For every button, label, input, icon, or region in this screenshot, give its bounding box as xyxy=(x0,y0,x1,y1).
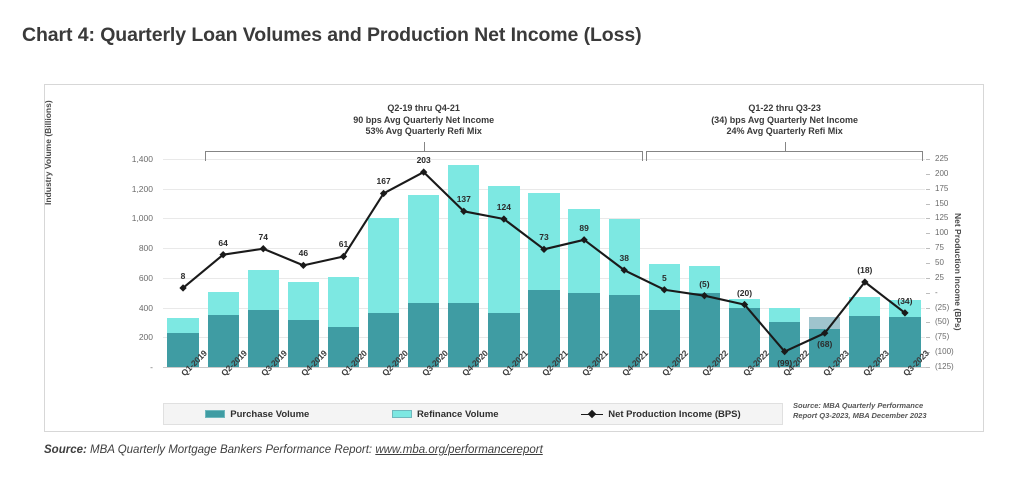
income-point-label: 124 xyxy=(497,202,511,212)
footer-source-text: MBA Quarterly Mortgage Bankers Performan… xyxy=(90,444,372,456)
income-point-label: 73 xyxy=(539,232,548,242)
income-point-label: (20) xyxy=(737,288,752,298)
income-point-label: 46 xyxy=(299,248,308,258)
legend-swatch-icon xyxy=(392,410,412,418)
footer-source-link[interactable]: www.mba.org/performancereport xyxy=(375,444,542,456)
legend-label: Purchase Volume xyxy=(230,409,309,420)
income-marker[interactable] xyxy=(260,245,267,252)
legend-item[interactable]: Refinance Volume xyxy=(392,409,499,420)
source-note-line1: Source: MBA Quarterly Performance xyxy=(793,401,927,411)
income-point-label: 61 xyxy=(339,239,348,249)
annotation-right-text: Q1-22 thru Q3-23(34) bps Avg Quarterly N… xyxy=(635,103,935,138)
footer-source-label: Source: xyxy=(44,444,87,456)
chart-source-note: Source: MBA Quarterly Performance Report… xyxy=(793,401,927,421)
income-point-label: 64 xyxy=(218,238,227,248)
legend-swatch-icon xyxy=(205,410,225,418)
annotation-right-line2: (34) bps Avg Quarterly Net Income xyxy=(635,115,935,127)
annotation-left-line2: 90 bps Avg Quarterly Net Income xyxy=(274,115,574,127)
income-point-label: 137 xyxy=(457,194,471,204)
income-point-label: 89 xyxy=(579,223,588,233)
chart-panel: Industry Volume (Billions) Net Productio… xyxy=(44,84,984,432)
income-marker[interactable] xyxy=(701,292,708,299)
income-point-label: 74 xyxy=(259,232,268,242)
chart-legend: Purchase VolumeRefinance VolumeNet Produ… xyxy=(163,403,783,425)
chart-page: Chart 4: Quarterly Loan Volumes and Prod… xyxy=(0,0,1023,491)
legend-label: Refinance Volume xyxy=(417,409,499,420)
income-point-label: (5) xyxy=(699,279,709,289)
legend-line-icon xyxy=(581,410,603,418)
income-point-label: (34) xyxy=(897,296,912,306)
annotation-right-line1: Q1-22 thru Q3-23 xyxy=(635,103,935,115)
income-point-label: (18) xyxy=(857,265,872,275)
annotation-left-line1: Q2-19 thru Q4-21 xyxy=(274,103,574,115)
annotation-right-bracket xyxy=(646,151,924,161)
annotation-left-bracket xyxy=(205,151,643,161)
annotation-left-bracket-stem xyxy=(424,142,425,151)
page-title: Chart 4: Quarterly Loan Volumes and Prod… xyxy=(22,24,642,47)
annotation-left-line3: 53% Avg Quarterly Refi Mix xyxy=(274,126,574,138)
income-markers xyxy=(179,168,908,355)
plot-area: Industry Volume (Billions) Net Productio… xyxy=(45,85,985,433)
footer-source: Source: MBA Quarterly Mortgage Bankers P… xyxy=(44,444,543,456)
income-marker[interactable] xyxy=(661,286,668,293)
legend-label: Net Production Income (BPS) xyxy=(608,409,740,420)
source-note-line2: Report Q3-2023, MBA December 2023 xyxy=(793,411,927,421)
annotation-right-bracket-stem xyxy=(785,142,786,151)
income-point-label: 5 xyxy=(662,273,667,283)
income-point-label: 38 xyxy=(619,253,628,263)
annotation-right-line3: 24% Avg Quarterly Refi Mix xyxy=(635,126,935,138)
income-marker[interactable] xyxy=(300,262,307,269)
legend-item[interactable]: Net Production Income (BPS) xyxy=(581,409,740,420)
income-point-label: 167 xyxy=(376,176,390,186)
income-point-label: 8 xyxy=(181,271,186,281)
income-polyline xyxy=(183,172,905,351)
income-point-label: (99) xyxy=(777,358,792,368)
legend-item[interactable]: Purchase Volume xyxy=(205,409,309,420)
annotation-left-text: Q2-19 thru Q4-2190 bps Avg Quarterly Net… xyxy=(274,103,574,138)
income-point-label: (68) xyxy=(817,339,832,349)
